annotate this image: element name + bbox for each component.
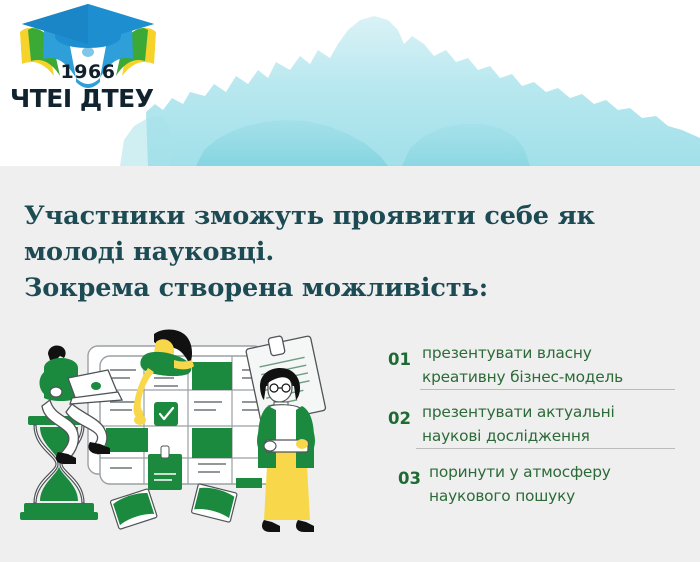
list-item: 01 презентувати власну креативну бізнес-…: [388, 341, 684, 389]
list-item-text: поринути у атмосферу наукового пошуку: [429, 460, 684, 508]
list-item-line: креативну бізнес-модель: [422, 365, 684, 389]
headline-line-3: Зокрема створена можливість:: [24, 270, 584, 306]
svg-text:1966: 1966: [61, 61, 116, 83]
list-item: 03 поринути у атмосферу наукового пошуку: [388, 460, 684, 508]
list-item-number: 03: [398, 460, 429, 488]
list-item-line: поринути у атмосферу: [429, 460, 684, 484]
main-content: Участники зможуть проявити себе як молод…: [0, 166, 700, 562]
page-header: 1966 ЧТЕІ ДТЕУ: [0, 0, 700, 166]
opportunities-list: 01 презентувати власну креативну бізнес-…: [388, 341, 684, 508]
list-item: 02 презентувати актуальні наукові дослід…: [388, 400, 684, 448]
headline-line-2: молоді науковці.: [24, 234, 584, 270]
institution-abbreviation: ЧТЕІ ДТЕУ: [6, 84, 166, 113]
headline-line-1: Участники зможуть проявити себе як: [24, 198, 584, 234]
list-item-line: наукового пошуку: [429, 484, 684, 508]
list-item-text: презентувати актуальні наукові досліджен…: [422, 400, 684, 448]
list-item-number: 01: [388, 341, 422, 369]
institution-logo: 1966 ЧТЕІ ДТЕУ: [6, 2, 166, 124]
list-divider: [420, 389, 675, 390]
graduation-cap-book-logo-icon: 1966: [14, 2, 162, 88]
list-item-line: наукові дослідження: [422, 424, 684, 448]
page-headline: Участники зможуть проявити себе як молод…: [24, 198, 584, 306]
team-planning-board-illustration-icon: [14, 328, 354, 553]
list-item-line: презентувати власну: [422, 341, 684, 365]
list-item-number: 02: [388, 400, 422, 428]
list-item-line: презентувати актуальні: [422, 400, 684, 424]
list-divider: [416, 448, 675, 449]
list-item-text: презентувати власну креативну бізнес-мод…: [422, 341, 684, 389]
